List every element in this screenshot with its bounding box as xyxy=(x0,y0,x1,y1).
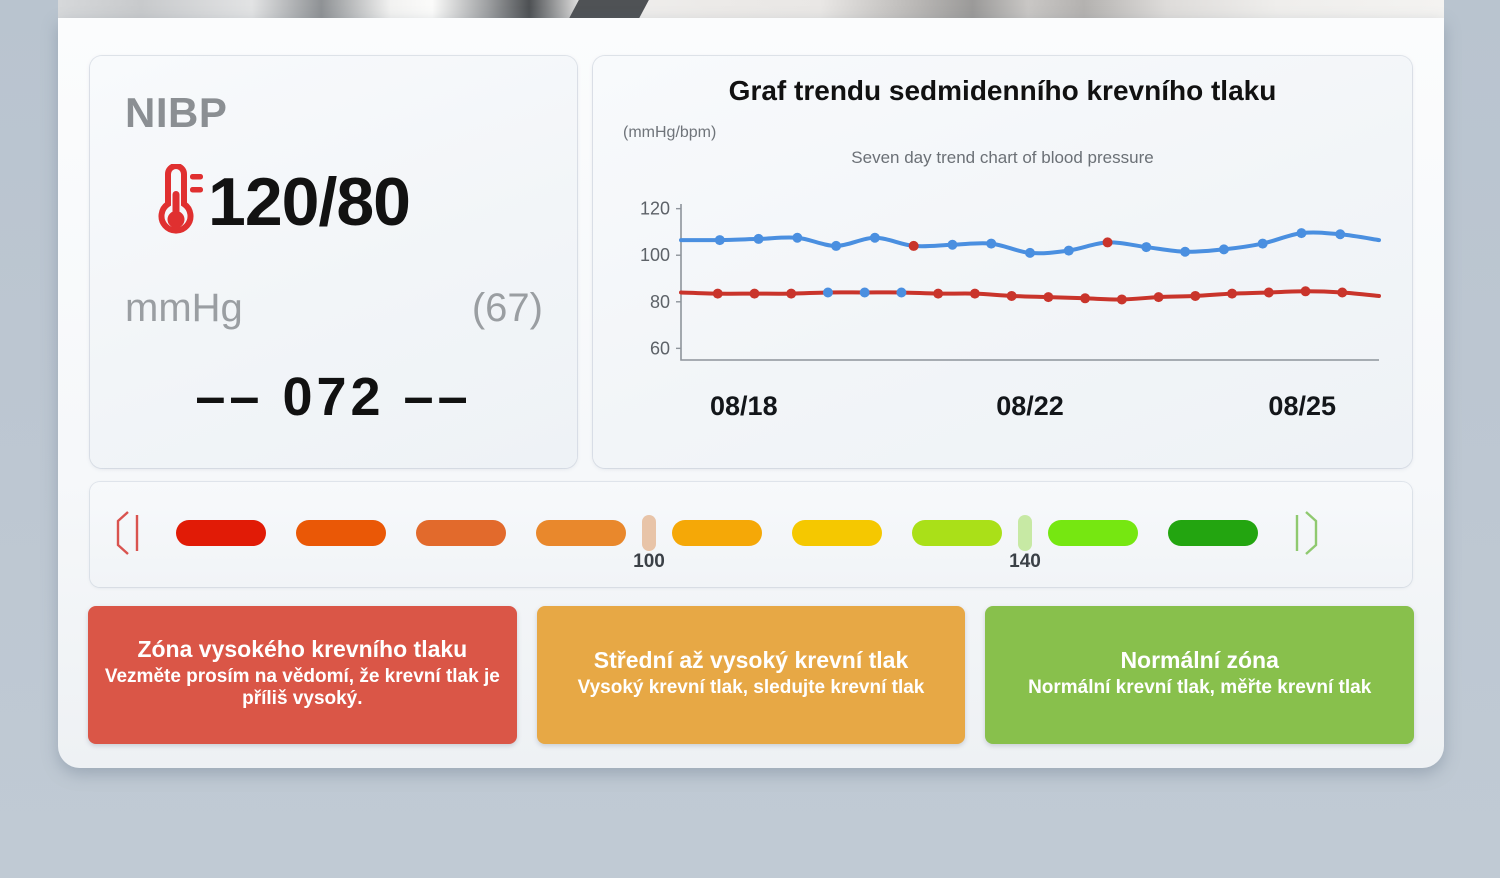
right-bracket-icon xyxy=(1292,509,1322,557)
chart-point-systolic[interactable] xyxy=(1258,239,1268,249)
scale-tick-label: 100 xyxy=(633,551,665,573)
chart-point-diastolic[interactable] xyxy=(786,289,796,299)
chart-point-diastolic[interactable] xyxy=(1154,292,1164,302)
chart-point-diastolic[interactable] xyxy=(1080,293,1090,303)
chart-point-systolic[interactable] xyxy=(754,234,764,244)
device-panel: NIBP 120/80 mmHg (67) –– 072 –– Graf tre… xyxy=(58,18,1444,768)
chart-x-tick-label: 08/25 xyxy=(1268,391,1336,422)
zone-description: Vysoký krevní tlak, sledujte krevní tlak xyxy=(578,677,925,699)
chart-point-systolic[interactable] xyxy=(715,235,725,245)
chart-point-systolic[interactable] xyxy=(1180,247,1190,257)
chart-point-systolic[interactable] xyxy=(870,233,880,243)
zone-card[interactable]: Zóna vysokého krevního tlakuVezměte pros… xyxy=(88,606,517,744)
chart-point-systolic[interactable] xyxy=(1141,242,1151,252)
chart-subtitle: Seven day trend chart of blood pressure xyxy=(593,148,1412,168)
chart-x-tick-label: 08/22 xyxy=(996,391,1064,422)
scale-tick-marker: 100 xyxy=(642,515,656,551)
chart-point-diastolic[interactable] xyxy=(1337,287,1347,297)
chart-y-tick-label: 60 xyxy=(650,338,670,358)
chart-point-diastolic[interactable] xyxy=(896,287,906,297)
scale-segment xyxy=(672,520,762,546)
chart-y-tick-label: 80 xyxy=(650,292,670,312)
scale-segment xyxy=(912,520,1002,546)
nibp-card[interactable]: NIBP 120/80 mmHg (67) –– 072 –– xyxy=(90,56,577,468)
chart-point-systolic[interactable] xyxy=(792,233,802,243)
nibp-reading-row: 120/80 xyxy=(148,164,410,240)
nibp-unit: mmHg xyxy=(125,286,243,331)
chart-point-diastolic[interactable] xyxy=(1043,292,1053,302)
chart-point-diastolic[interactable] xyxy=(823,287,833,297)
zone-description: Normální krevní tlak, měřte krevní tlak xyxy=(1028,677,1371,699)
zone-card[interactable]: Střední až vysoký krevní tlakVysoký krev… xyxy=(537,606,966,744)
chart-point-systolic[interactable] xyxy=(1064,246,1074,256)
chart-point-systolic[interactable] xyxy=(1296,228,1306,238)
scale-segment xyxy=(176,520,266,546)
zone-card[interactable]: Normální zónaNormální krevní tlak, měřte… xyxy=(985,606,1414,744)
chart-point-diastolic[interactable] xyxy=(1190,291,1200,301)
zone-title: Normální zóna xyxy=(1120,648,1278,674)
chart-point-systolic[interactable] xyxy=(831,241,841,251)
scale-segment xyxy=(1048,520,1138,546)
chart-unit-label: (mmHg/bpm) xyxy=(623,124,716,142)
scale-segment xyxy=(792,520,882,546)
thermometer-icon xyxy=(148,164,204,240)
scale-segment xyxy=(296,520,386,546)
pressure-scale-inner: 100140 xyxy=(112,510,1390,556)
nibp-label: NIBP xyxy=(125,89,227,137)
chart-title: Graf trendu sedmidenního krevního tlaku xyxy=(593,74,1412,108)
chart-y-tick-label: 120 xyxy=(640,199,670,219)
chart-x-axis: 08/1808/2208/25 xyxy=(617,391,1387,435)
chart-point-diastolic[interactable] xyxy=(1117,294,1127,304)
scale-tick-label: 140 xyxy=(1009,551,1041,573)
top-photo-strip xyxy=(58,0,1444,18)
chart-point-diastolic[interactable] xyxy=(860,287,870,297)
chart-x-tick-label: 08/18 xyxy=(710,391,778,422)
nibp-units-row: mmHg (67) xyxy=(125,286,543,331)
blood-pressure-line-chart[interactable]: 1201008060 xyxy=(617,196,1387,386)
trend-chart-card[interactable]: Graf trendu sedmidenního krevního tlaku … xyxy=(593,56,1412,468)
chart-point-diastolic[interactable] xyxy=(749,289,759,299)
chart-point-diastolic[interactable] xyxy=(1264,287,1274,297)
chart-point-diastolic[interactable] xyxy=(713,289,723,299)
nibp-value: 120/80 xyxy=(208,168,410,236)
chart-point-systolic[interactable] xyxy=(1219,244,1229,254)
nibp-pulse-value: (67) xyxy=(472,286,543,331)
chart-series-diastolic xyxy=(681,291,1379,299)
zone-cards-row: Zóna vysokého krevního tlakuVezměte pros… xyxy=(88,606,1414,744)
left-bracket-icon xyxy=(112,509,142,557)
pressure-scale-strip: 100140 xyxy=(90,482,1412,587)
chart-y-tick-label: 100 xyxy=(640,245,670,265)
scale-tick-marker: 140 xyxy=(1018,515,1032,551)
chart-point-systolic[interactable] xyxy=(1025,248,1035,258)
chart-point-systolic[interactable] xyxy=(909,241,919,251)
upper-cards-row: NIBP 120/80 mmHg (67) –– 072 –– Graf tre… xyxy=(90,56,1412,468)
chart-point-diastolic[interactable] xyxy=(1227,289,1237,299)
chart-point-systolic[interactable] xyxy=(1335,229,1345,239)
zone-title: Střední až vysoký krevní tlak xyxy=(594,648,909,674)
chart-point-diastolic[interactable] xyxy=(970,289,980,299)
chart-point-systolic[interactable] xyxy=(947,240,957,250)
chart-point-systolic[interactable] xyxy=(986,239,996,249)
chart-point-diastolic[interactable] xyxy=(1007,291,1017,301)
chart-point-systolic[interactable] xyxy=(1103,237,1113,247)
nibp-secondary-reading: –– 072 –– xyxy=(90,366,577,428)
chart-point-diastolic[interactable] xyxy=(933,289,943,299)
photo-shard xyxy=(565,0,651,18)
zone-title: Zóna vysokého krevního tlaku xyxy=(137,637,467,663)
zone-description: Vezměte prosím na vědomí, že krevní tlak… xyxy=(102,666,503,711)
scale-segment xyxy=(1168,520,1258,546)
chart-axes xyxy=(681,204,1379,360)
chart-point-diastolic[interactable] xyxy=(1301,286,1311,296)
scale-segment xyxy=(536,520,626,546)
scale-segment xyxy=(416,520,506,546)
